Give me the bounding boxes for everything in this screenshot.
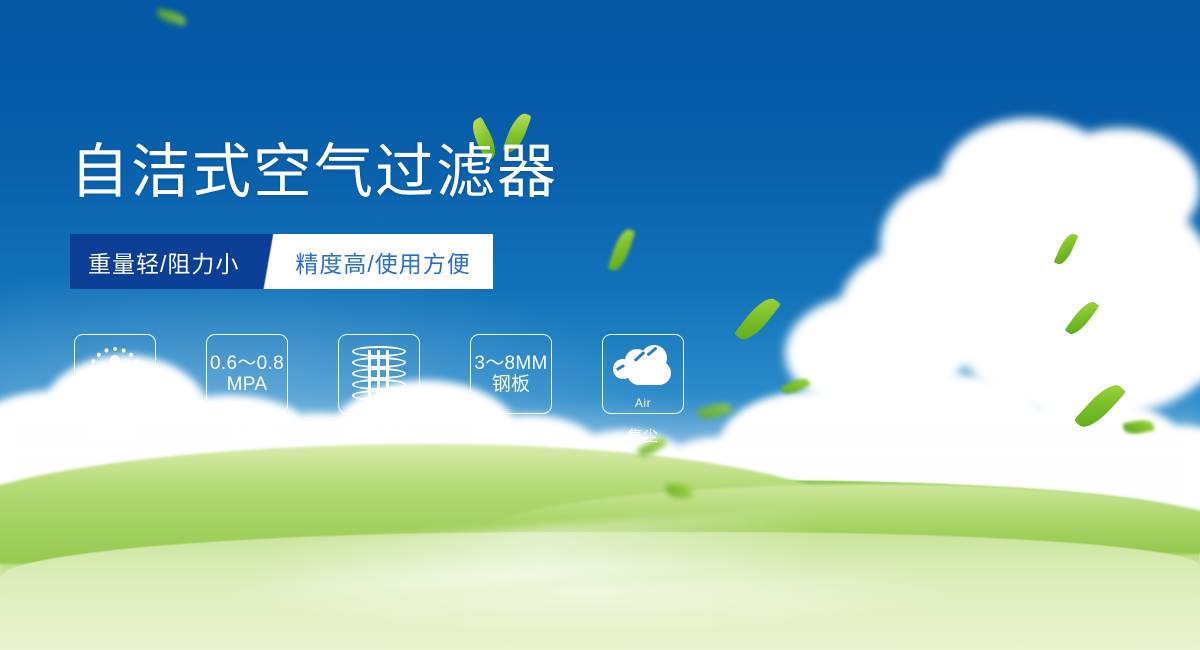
steel-plate-text-icon: 3〜8MM 钢板 — [474, 353, 547, 396]
pressure-line-1: 0.6〜0.8 — [210, 353, 284, 374]
air-label: Air — [603, 396, 683, 410]
feature-item[interactable]: 强力反吹 — [334, 334, 424, 446]
feature-icon-box: NO OFF — [74, 334, 156, 414]
feature-item[interactable]: Air 集尘 — [598, 334, 688, 446]
feature-caption: 钢结构强度 — [472, 425, 550, 446]
gauge-needle — [110, 355, 120, 395]
feature-item[interactable]: 3〜8MM 钢板 钢结构强度 — [466, 334, 556, 446]
air-cloud-icon — [613, 343, 673, 387]
feature-icon-box: Air — [602, 334, 684, 414]
steel-line-2: 钢板 — [474, 374, 547, 395]
tagline-divider — [259, 234, 285, 289]
feature-list: NO OFF 控制仪 0.6〜0.8 MPA 二级过滤 — [70, 334, 688, 446]
page-title: 自洁式空气过滤器 — [70, 143, 558, 202]
grass-sheen — [216, 548, 960, 632]
steel-line-1: 3〜8MM — [474, 353, 547, 374]
feature-item[interactable]: NO OFF 控制仪 — [70, 334, 160, 446]
feature-icon-box: 0.6〜0.8 MPA — [206, 334, 288, 414]
feature-caption: 强力反吹 — [348, 425, 410, 446]
feature-item[interactable]: 0.6〜0.8 MPA 二级过滤 — [202, 334, 292, 446]
tagline-right: 精度高/使用方便 — [285, 234, 492, 289]
control-gauge-icon: NO OFF — [84, 343, 146, 405]
feature-icon-box: 3〜8MM 钢板 — [470, 334, 552, 414]
feature-caption: 控制仪 — [92, 425, 139, 446]
pressure-text-icon: 0.6〜0.8 MPA — [210, 353, 284, 396]
tagline-badge: 重量轻/阻力小 精度高/使用方便 — [70, 234, 493, 289]
gauge-label-off: OFF — [132, 391, 146, 398]
gauge-label-no: NO — [81, 370, 92, 377]
tagline-left: 重量轻/阻力小 — [70, 234, 259, 289]
product-hero-banner: 自洁式空气过滤器 重量轻/阻力小 精度高/使用方便 — [0, 0, 1200, 650]
feature-icon-box — [338, 334, 420, 414]
feature-caption: 集尘 — [627, 425, 658, 446]
pressure-line-2: MPA — [210, 374, 284, 395]
feature-caption: 二级过滤 — [216, 425, 278, 446]
filter-cartridge-icon — [352, 346, 406, 402]
